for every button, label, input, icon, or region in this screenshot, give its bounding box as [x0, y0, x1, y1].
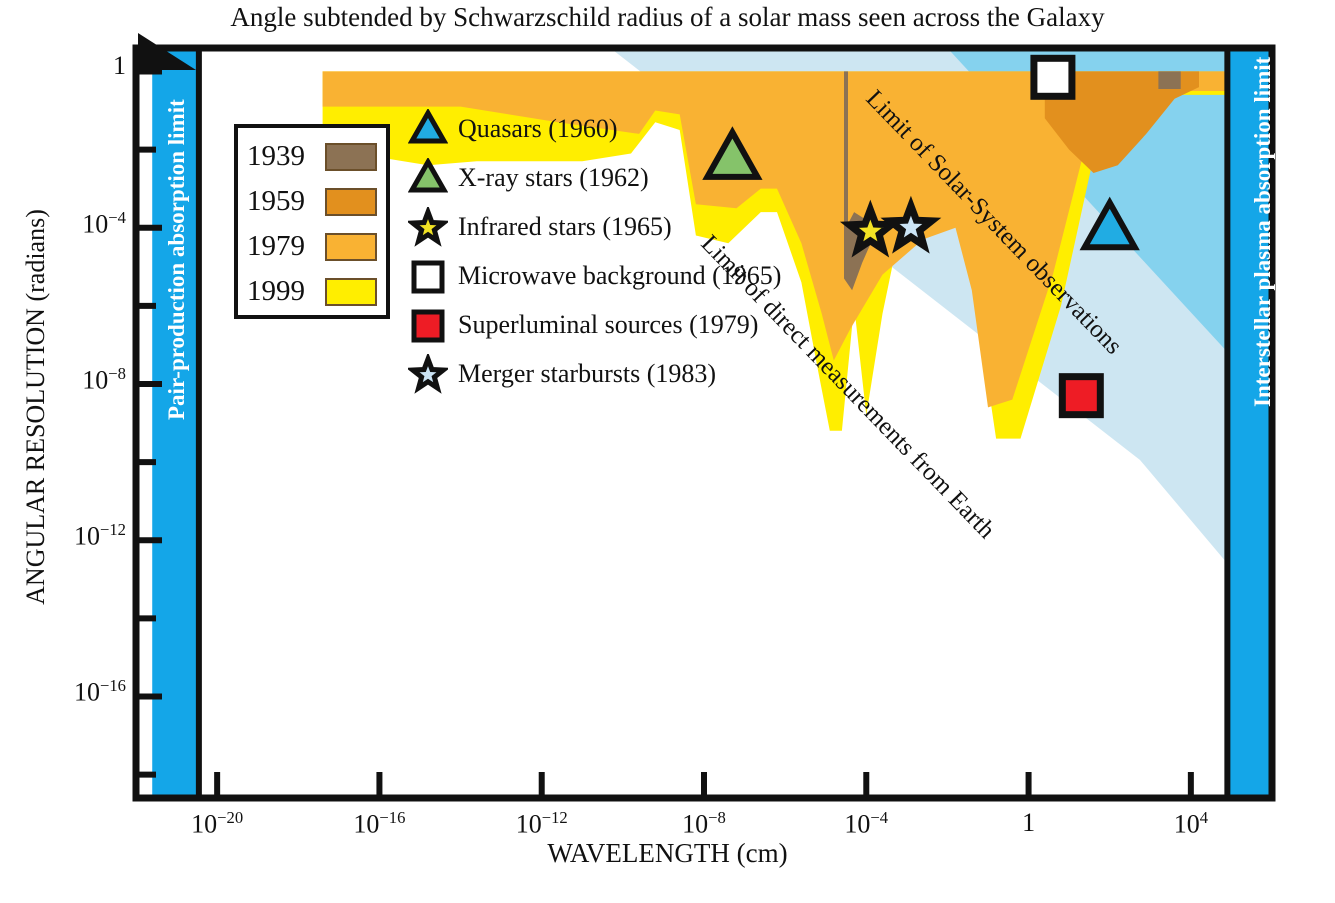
star-icon — [408, 354, 448, 394]
data-point-square[interactable] — [1034, 58, 1072, 96]
marker-legend-label: Quasars (1960) — [458, 114, 618, 144]
year-legend-row: 1939 — [238, 134, 386, 179]
year-legend-row: 1979 — [238, 224, 386, 269]
triangle-icon — [408, 158, 448, 198]
marker-legend-row[interactable]: X-ray stars (1962) — [408, 153, 878, 202]
marker-legend-row[interactable]: Superluminal sources (1979) — [408, 300, 878, 349]
marker-legend-label: Merger starbursts (1983) — [458, 359, 716, 389]
year-legend-label: 1959 — [247, 185, 325, 218]
year-legend-label: 1939 — [247, 140, 325, 173]
star-icon — [408, 207, 448, 247]
left-band-edge — [196, 48, 202, 798]
year-legend-swatch — [325, 188, 377, 216]
marker-legend-label: Microwave background (1965) — [458, 261, 781, 291]
year-legend-swatch — [325, 278, 377, 306]
marker-legend-label: Superluminal sources (1979) — [458, 310, 758, 340]
year-legend-swatch — [325, 143, 377, 171]
year-legend-row: 1999 — [238, 269, 386, 314]
year-legend-swatch — [325, 233, 377, 261]
marker-legend-row[interactable]: Quasars (1960) — [408, 104, 878, 153]
marker-legend-row[interactable]: Infrared stars (1965) — [408, 202, 878, 251]
marker-legend-label: Infrared stars (1965) — [458, 212, 672, 242]
square-icon — [408, 256, 448, 296]
year-legend-label: 1979 — [247, 230, 325, 263]
area-patch-1939 — [1158, 71, 1180, 89]
square-icon — [408, 305, 448, 345]
marker-legend-row[interactable]: Merger starbursts (1983) — [408, 349, 878, 398]
year-legend-row: 1959 — [238, 179, 386, 224]
data-point-square[interactable] — [1062, 377, 1100, 415]
marker-legend: Quasars (1960)X-ray stars (1962)Infrared… — [408, 104, 878, 398]
chart-root: Angle subtended by Schwarzschild radius … — [0, 0, 1335, 903]
year-legend-label: 1999 — [247, 275, 325, 308]
marker-legend-label: X-ray stars (1962) — [458, 163, 649, 193]
triangle-icon — [408, 109, 448, 149]
right-band-edge — [1224, 48, 1230, 798]
year-legend: 1939195919791999 — [234, 124, 390, 319]
marker-legend-row[interactable]: Microwave background (1965) — [408, 251, 878, 300]
